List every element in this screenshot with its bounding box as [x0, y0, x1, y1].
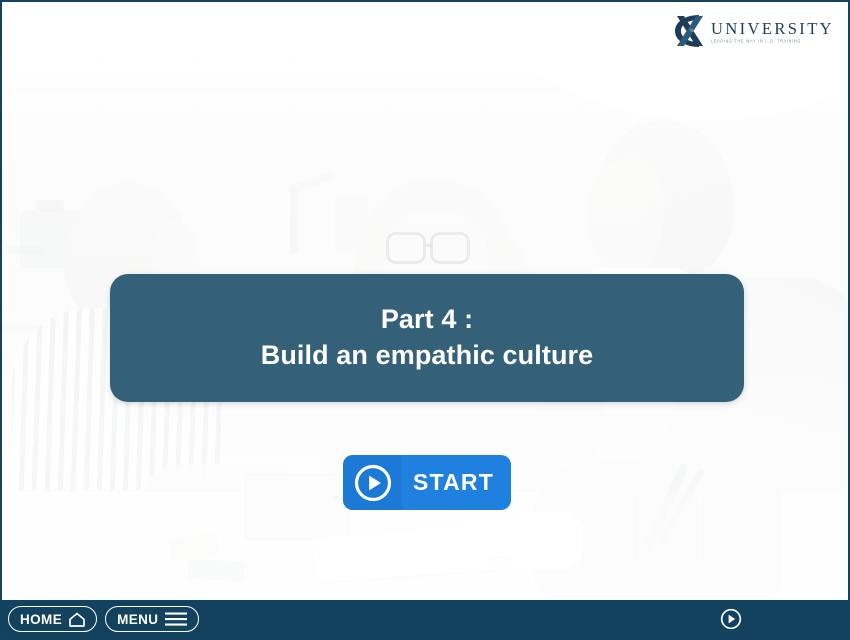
start-button-label: START [402, 469, 511, 496]
title-line-1: Part 4 : [381, 302, 473, 338]
menu-button-label: MENU [117, 612, 158, 627]
glasses-icon-left-lens [386, 232, 426, 264]
glasses-icon-bridge [425, 244, 433, 247]
start-icon-container [343, 455, 402, 510]
slide-canvas: UNIVERSITY LEADING THE WAY IN L.D. TRAIN… [0, 0, 850, 640]
logo-text: UNIVERSITY LEADING THE WAY IN L.D. TRAIN… [711, 19, 834, 44]
header-bar: UNIVERSITY LEADING THE WAY IN L.D. TRAIN… [2, 2, 848, 60]
title-line-2: Build an empathic culture [261, 338, 594, 374]
hamburger-icon [165, 612, 187, 626]
home-icon [69, 612, 85, 627]
play-icon [353, 463, 393, 503]
person-right-ear [642, 200, 666, 230]
person-right-cuff [508, 512, 582, 570]
title-card: Part 4 : Build an empathic culture [110, 274, 744, 402]
kettle-lid-shape [36, 200, 64, 211]
play-audio-button[interactable] [720, 608, 742, 630]
menu-button[interactable]: MENU [105, 606, 199, 632]
drinking-glass-shape [636, 492, 704, 574]
logo-wordmark: UNIVERSITY [711, 21, 834, 38]
play-circle-icon [720, 608, 742, 630]
glasses-icon-right-lens [430, 232, 470, 264]
x-c-monogram-icon [669, 11, 713, 51]
kettle-handle-shape [2, 246, 42, 254]
home-button[interactable]: HOME [8, 606, 97, 632]
laptop-shape [245, 474, 349, 540]
start-button[interactable]: START [343, 455, 511, 510]
faucet-shape [290, 188, 298, 254]
home-button-label: HOME [20, 612, 62, 627]
sticky-note-teal [188, 559, 245, 582]
logo-tagline: LEADING THE WAY IN L.D. TRAINING [711, 40, 834, 44]
university-logo: UNIVERSITY LEADING THE WAY IN L.D. TRAIN… [669, 10, 834, 52]
person-left-ear [128, 248, 150, 276]
bottom-navigation-bar: HOME MENU [2, 600, 848, 638]
